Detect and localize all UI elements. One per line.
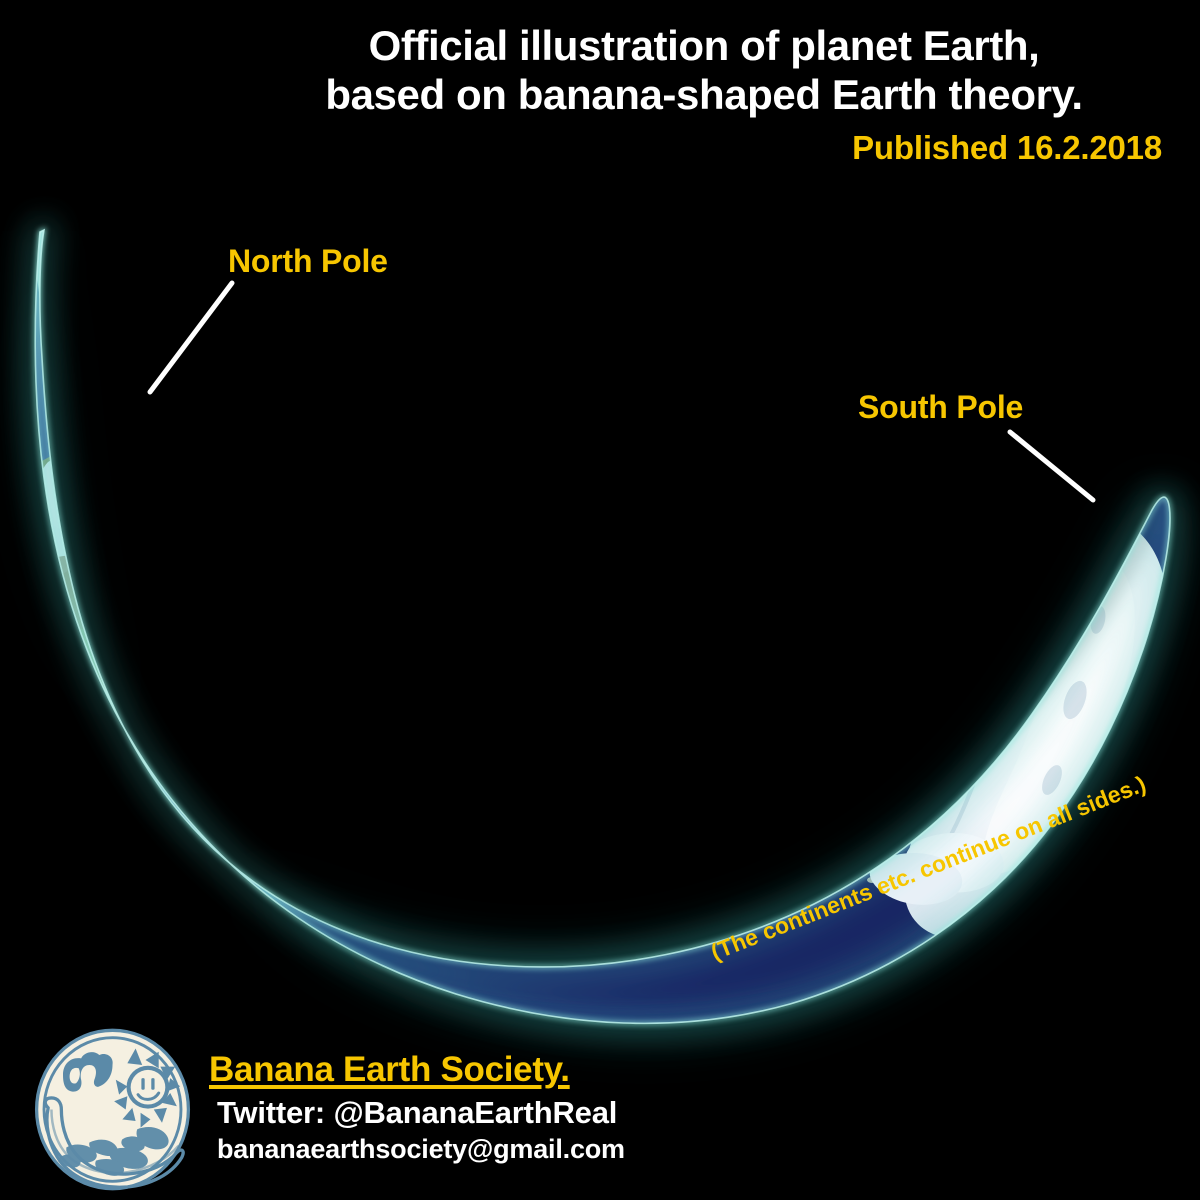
- north-pole-label: North Pole: [228, 243, 388, 280]
- caribbean-islands: [327, 665, 520, 746]
- footer-text-block: Banana Earth Society. Twitter: @BananaEa…: [209, 1050, 625, 1169]
- banana-earth-poster: Official illustration of planet Earth, b…: [0, 0, 1200, 1200]
- banana-earth-illustration: [0, 0, 1200, 1200]
- planet-surface: [26, 204, 1170, 1023]
- banana-earth-graphic: [0, 0, 1200, 1200]
- organization-name[interactable]: Banana Earth Society.: [209, 1050, 625, 1090]
- land-central-continent: [447, 632, 968, 861]
- twitter-handle[interactable]: Twitter: @BananaEarthReal: [209, 1095, 625, 1131]
- atmosphere-halo: [35, 230, 1170, 1023]
- ocean-shading: [120, 540, 1120, 1010]
- ocean-islands: [463, 660, 940, 883]
- footer: Banana Earth Society. Twitter: @BananaEa…: [30, 1027, 625, 1192]
- land-north-america: [26, 436, 260, 782]
- banana-earth-society-logo: [30, 1027, 195, 1192]
- published-date: Published 16.2.2018: [234, 129, 1174, 167]
- page-title-line-1: Official illustration of planet Earth,: [234, 22, 1174, 69]
- page-title-line-2: based on banana-shaped Earth theory.: [234, 71, 1174, 118]
- land-central-america: [256, 665, 520, 869]
- atmosphere-rim: [35, 230, 1170, 1023]
- poster-header: Official illustration of planet Earth, b…: [234, 22, 1174, 167]
- south-pole-label: South Pole: [858, 389, 1023, 426]
- email-address[interactable]: bananaearthsociety@gmail.com: [209, 1134, 625, 1165]
- north-pole-ice: [34, 204, 193, 506]
